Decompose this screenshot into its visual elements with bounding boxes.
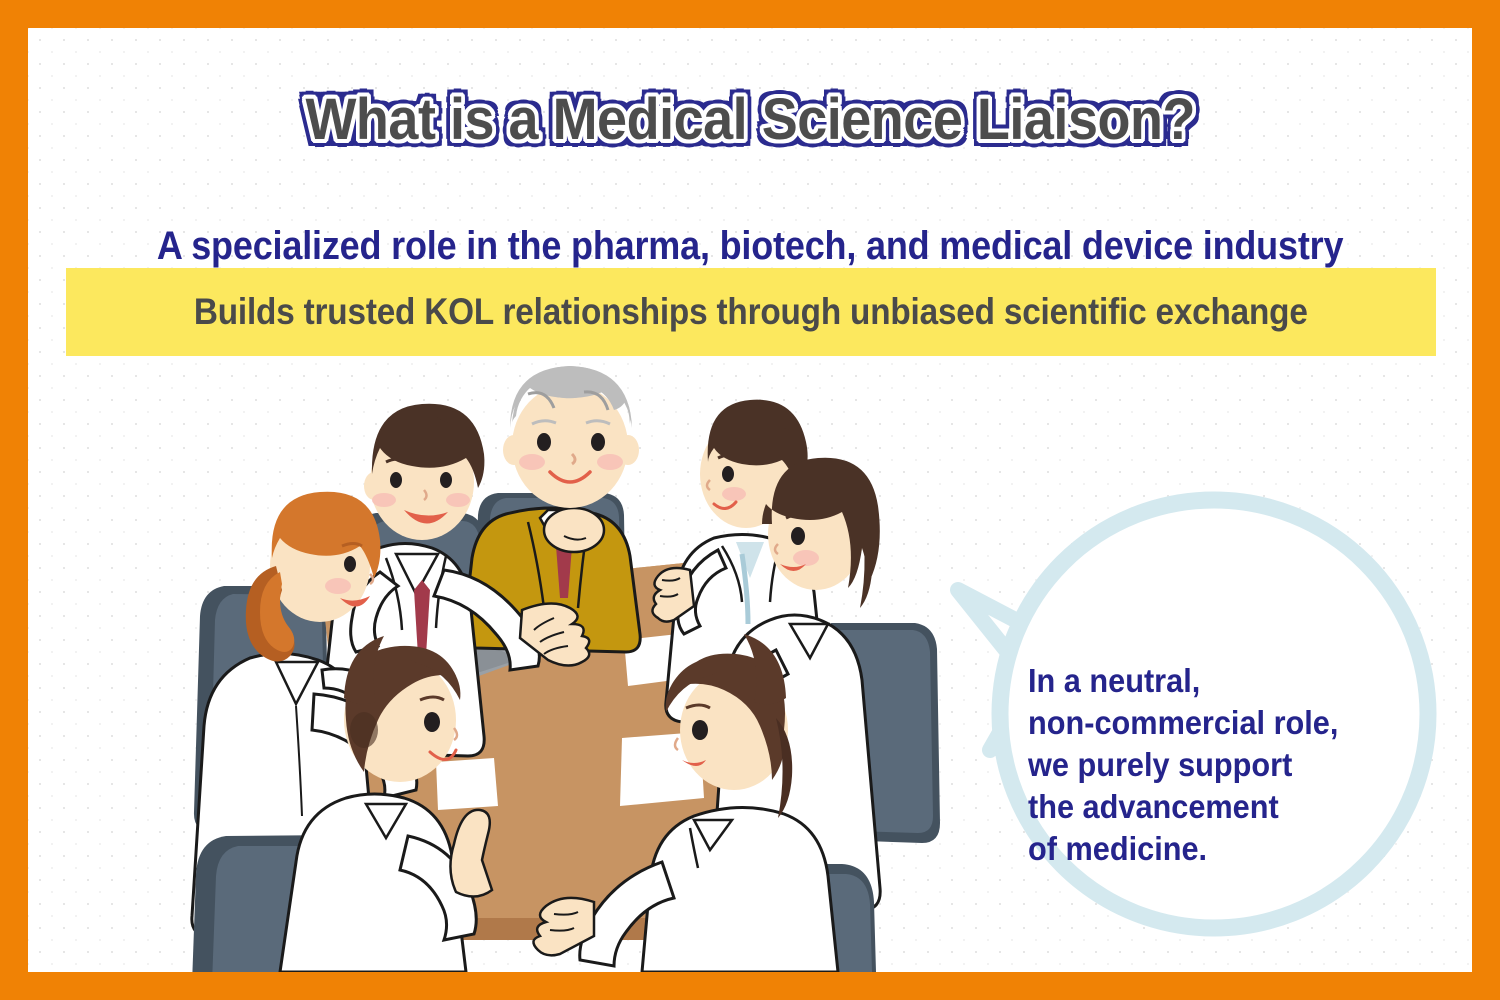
poster-canvas: What is a Medical Science Liaison? A spe… [28, 28, 1472, 972]
page-subtitle-text: A specialized role in the pharma, biotec… [157, 224, 1343, 269]
speech-bubble-text: In a neutral, non-commercial role, we pu… [1028, 660, 1363, 870]
highlight-banner: Builds trusted KOL relationships through… [66, 268, 1436, 356]
page-subtitle: A specialized role in the pharma, biotec… [28, 224, 1472, 269]
page-title: What is a Medical Science Liaison? [28, 86, 1472, 153]
highlight-banner-text: Builds trusted KOL relationships through… [194, 291, 1308, 333]
infographic-poster: What is a Medical Science Liaison? A spe… [0, 0, 1500, 1000]
paper-sheet [436, 758, 498, 810]
page-title-text: What is a Medical Science Liaison? [305, 86, 1194, 153]
